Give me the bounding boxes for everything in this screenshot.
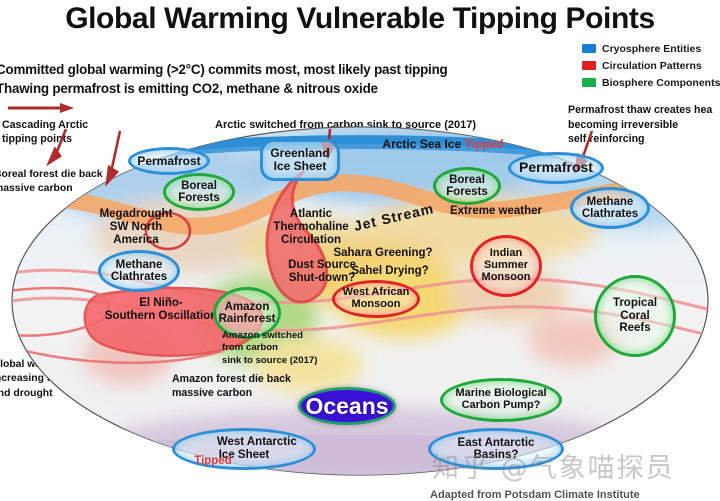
label-dust-source: Dust Source Shut-down? — [280, 259, 364, 285]
node-methane-east-label: Methane Clathrates — [582, 196, 638, 221]
legend-item-cryosphere: Cryosphere Entities — [582, 41, 720, 56]
node-coral-reefs-label: Tropical Coral Reefs — [613, 297, 657, 334]
legend-swatch-blue-icon — [582, 44, 596, 53]
node-greenland-label: Greenland Ice Sheet — [270, 147, 329, 173]
infographic-root: Global Warming Vulnerable Tipping Points… — [0, 0, 720, 501]
note-committed-line2: Thawing permafrost is emitting CO2, meth… — [0, 79, 466, 98]
watermark: 知乎 @气象喵探员 — [432, 446, 675, 485]
page-title: Global Warming Vulnerable Tipping Points — [0, 2, 720, 36]
node-indian-monsoon-label: Indian Summer Monsoon — [482, 248, 531, 284]
legend-item-circulation: Circulation Patterns — [582, 58, 720, 73]
node-permafrost-west-label: Permafrost — [137, 155, 200, 168]
label-arctic-sea-ice: Arctic Sea Ice Tipped — [363, 138, 523, 151]
legend-label-biosphere: Biosphere Components — [602, 77, 720, 89]
node-boreal-west-label: Boreal Forests — [178, 180, 220, 205]
label-extreme-weather: Extreme weather — [436, 205, 556, 218]
node-west-african-label: West African Monsoon — [343, 287, 410, 311]
node-indian-summer-monsoon[interactable]: Indian Summer Monsoon — [470, 235, 542, 297]
label-sahara-greening: Sahara Greening? — [328, 247, 438, 260]
node-methane-west-label: Methane Clathrates — [111, 259, 167, 284]
node-marine-carbon-pump[interactable]: Marine Biological Carbon Pump? — [440, 378, 562, 422]
node-methane-clathrates-west[interactable]: Methane Clathrates — [98, 250, 180, 292]
status-badge-west-antarctic-tipped: Tipped — [184, 455, 242, 468]
node-permafrost-east[interactable]: Permafrost — [508, 152, 604, 184]
node-boreal-east-label: Boreal Forests — [446, 174, 488, 199]
node-tropical-coral-reefs[interactable]: Tropical Coral Reefs — [594, 275, 676, 357]
note-amazon-dieback: Amazon forest die back massive carbon — [172, 372, 332, 401]
node-greenland-ice-sheet[interactable]: Greenland Ice Sheet — [260, 139, 340, 181]
status-badge-arctic-tipped: Tipped — [464, 137, 503, 151]
label-enso: El Niño- Southern Oscillation — [96, 297, 226, 323]
world-map: Arctic Sea Ice Tipped Jet Stream Extreme… — [8, 125, 712, 480]
node-methane-clathrates-east[interactable]: Methane Clathrates — [570, 187, 650, 229]
cascading-arrow-icon — [6, 101, 76, 115]
legend-swatch-red-icon — [582, 61, 596, 70]
label-megadrought: Megadrought SW North America — [86, 208, 186, 247]
node-boreal-forests-east[interactable]: Boreal Forests — [433, 167, 501, 205]
node-permafrost-west[interactable]: Permafrost — [128, 147, 210, 175]
node-amazon-label: Amazon Rainforest — [219, 301, 276, 326]
legend: Cryosphere Entities Circulation Patterns… — [582, 41, 720, 92]
node-permafrost-east-label: Permafrost — [519, 160, 593, 175]
node-marine-pump-label: Marine Biological Carbon Pump? — [455, 388, 546, 412]
label-arctic-sea-ice-text: Arctic Sea Ice — [382, 137, 461, 151]
label-atlantic-thermohaline: Atlantic Thermohaline Circulation — [266, 208, 356, 247]
attribution: Adapted from Potsdam Climate Institute — [430, 488, 720, 501]
legend-swatch-green-icon — [582, 78, 596, 87]
note-amazon-switched: Amazon switched from carbon sink to sour… — [222, 330, 320, 367]
legend-label-cryosphere: Cryosphere Entities — [602, 43, 701, 55]
node-west-african-monsoon[interactable]: West African Monsoon — [332, 280, 420, 318]
legend-item-biosphere: Biosphere Components — [582, 75, 720, 90]
legend-label-circulation: Circulation Patterns — [602, 60, 702, 72]
node-boreal-forests-west[interactable]: Boreal Forests — [163, 173, 235, 211]
note-committed-line1: Committed global warming (>2°C) commits … — [0, 60, 466, 79]
note-committed-warming: Committed global warming (>2°C) commits … — [0, 60, 466, 98]
